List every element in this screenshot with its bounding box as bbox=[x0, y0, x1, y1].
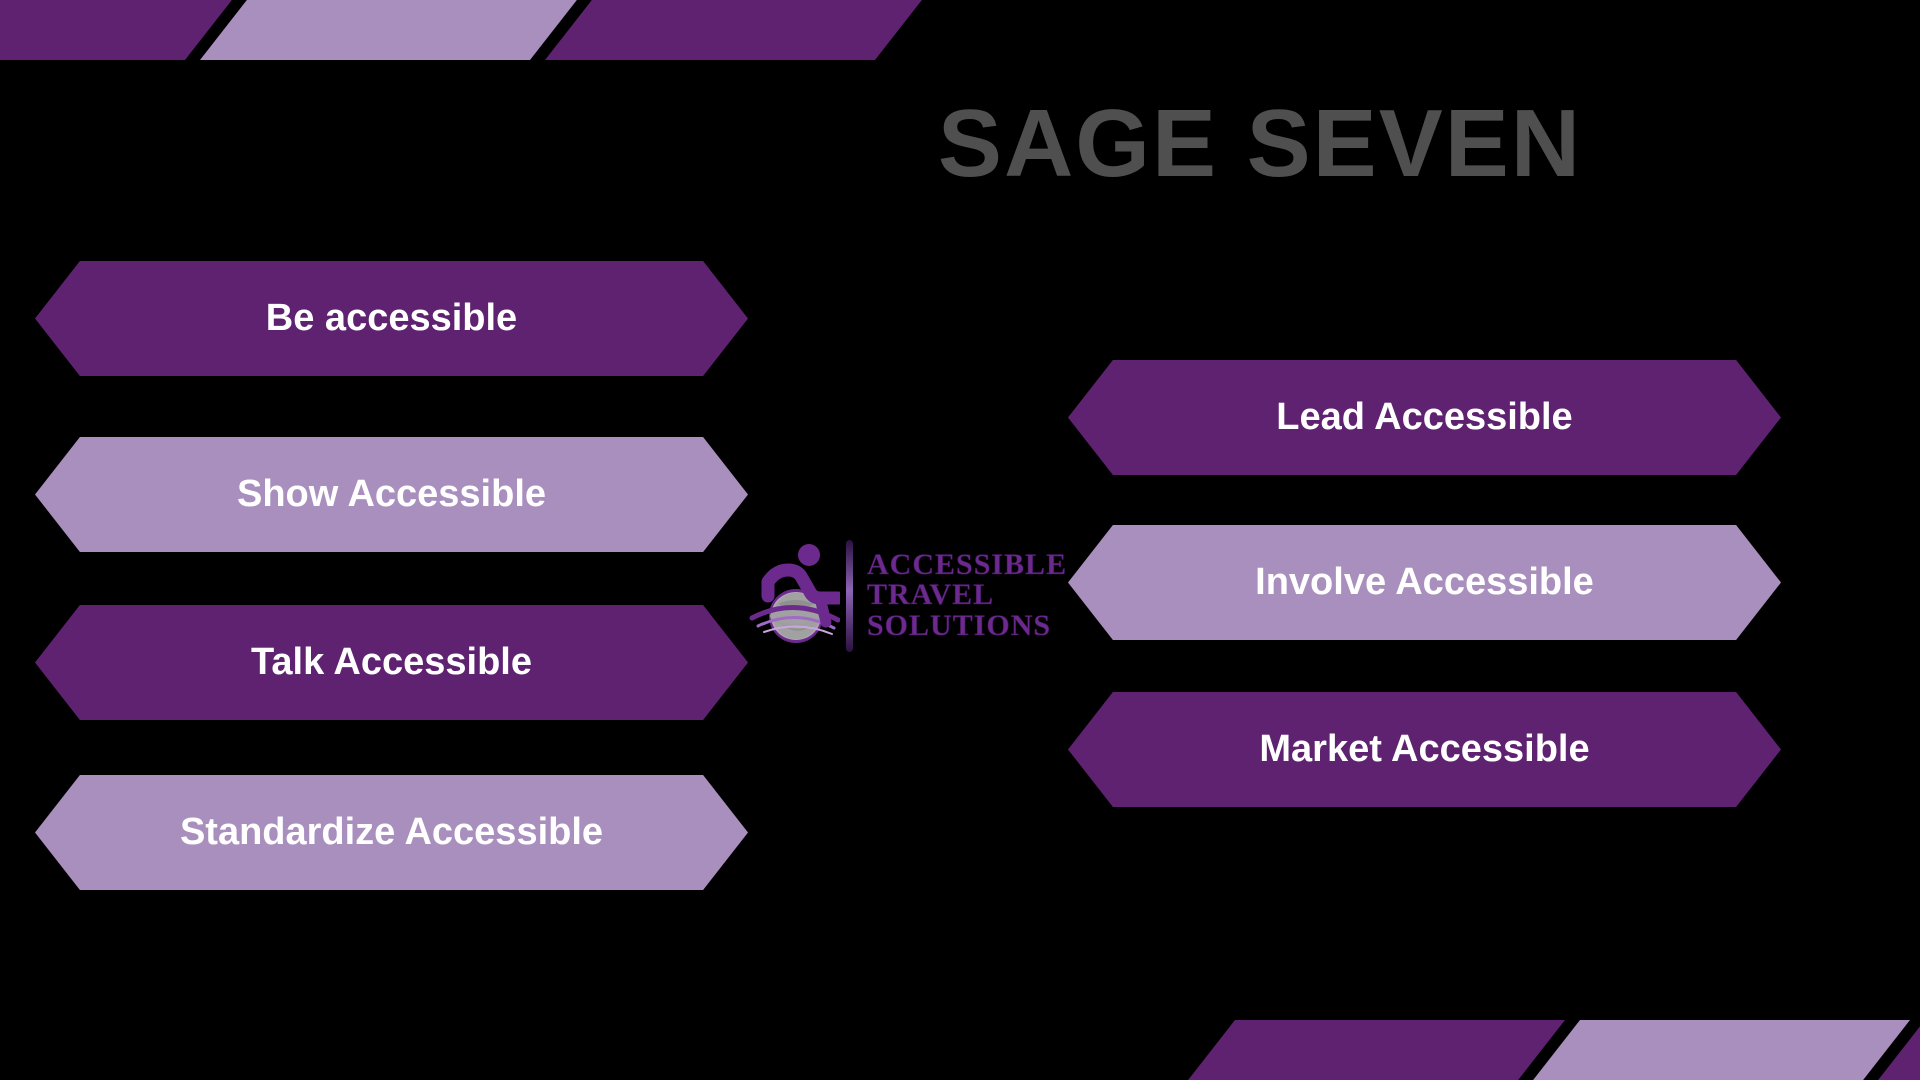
chevron-label: Be accessible bbox=[35, 297, 748, 340]
chevron-standardize-accessible[interactable]: Standardize Accessible bbox=[35, 775, 748, 890]
logo-line-1: ACCESSIBLE bbox=[867, 550, 1067, 581]
chevron-label: Talk Accessible bbox=[35, 641, 748, 684]
decor-stripe-top-left-2 bbox=[200, 0, 580, 60]
chevron-label: Market Accessible bbox=[1068, 728, 1781, 771]
chevron-label: Involve Accessible bbox=[1068, 561, 1781, 604]
page-title: SAGE SEVEN bbox=[760, 96, 1760, 192]
logo-wordmark: ACCESSIBLE TRAVEL SOLUTIONS bbox=[867, 550, 1067, 642]
chevron-talk-accessible[interactable]: Talk Accessible bbox=[35, 605, 748, 720]
chevron-market-accessible[interactable]: Market Accessible bbox=[1068, 692, 1781, 807]
chevron-be-accessible[interactable]: Be accessible bbox=[35, 261, 748, 376]
wheelchair-globe-icon bbox=[748, 538, 840, 653]
chevron-involve-accessible[interactable]: Involve Accessible bbox=[1068, 525, 1781, 640]
logo-divider bbox=[846, 540, 853, 652]
chevron-label: Lead Accessible bbox=[1068, 396, 1781, 439]
decor-stripe-bottom-right-1 bbox=[1185, 1020, 1565, 1080]
chevron-label: Show Accessible bbox=[35, 473, 748, 516]
decor-stripe-top-left-1 bbox=[0, 0, 235, 60]
chevron-lead-accessible[interactable]: Lead Accessible bbox=[1068, 360, 1781, 475]
logo-line-2: TRAVEL bbox=[867, 580, 1067, 611]
slide-canvas: SAGE SEVEN Be accessible Show Accessible… bbox=[0, 0, 1920, 1080]
decor-stripe-bottom-right-2 bbox=[1530, 1020, 1910, 1080]
chevron-show-accessible[interactable]: Show Accessible bbox=[35, 437, 748, 552]
logo-line-3: SOLUTIONS bbox=[867, 611, 1067, 642]
chevron-label: Standardize Accessible bbox=[35, 811, 748, 854]
decor-stripe-top-left-3 bbox=[545, 0, 925, 60]
brand-logo[interactable]: ACCESSIBLE TRAVEL SOLUTIONS bbox=[748, 528, 1078, 663]
